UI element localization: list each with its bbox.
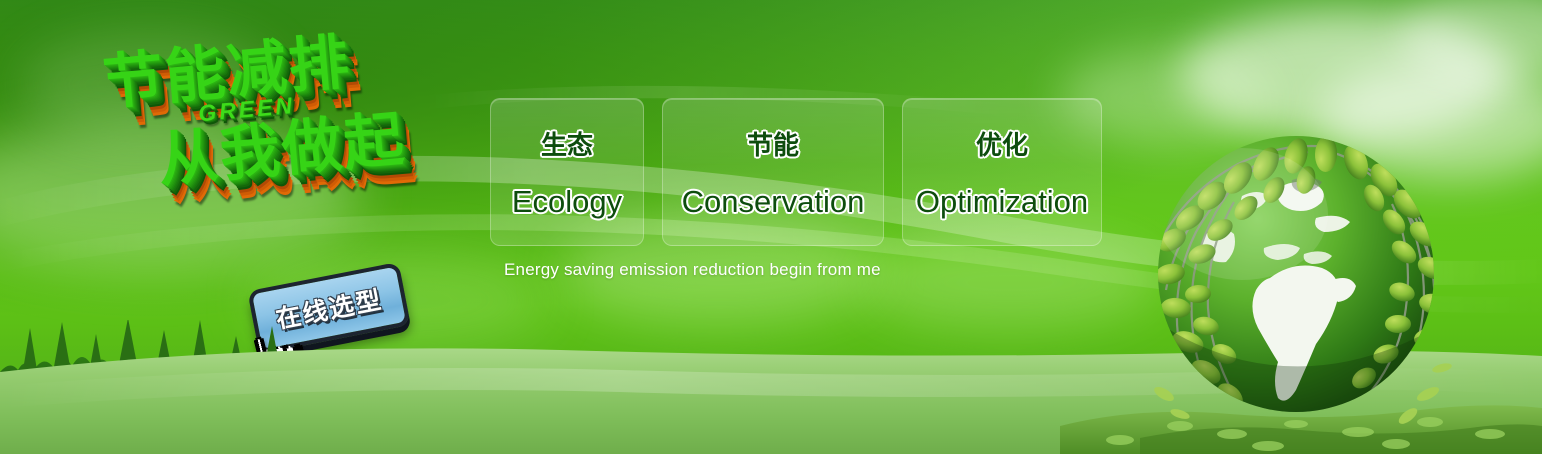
feature-box-conservation[interactable]: 节能 Conservation — [662, 98, 884, 246]
online-selection-button[interactable]: 在线选型 — [247, 262, 410, 354]
feature-box-optimization[interactable]: 优化 Optimization — [902, 98, 1102, 246]
feature-label-cn: 节能 — [747, 125, 799, 162]
feature-label-en: Conservation — [682, 184, 865, 220]
eco-hero-banner: 节能减排 GREEN 从我做起 生态 Ecology 节能 Conservati… — [0, 0, 1542, 454]
feature-box-ecology[interactable]: 生态 Ecology — [490, 98, 644, 246]
feature-label-cn: 优化 — [976, 125, 1028, 162]
online-selection-button-wrapper: 在线选型 — [247, 262, 410, 354]
feature-box-group: 生态 Ecology 节能 Conservation 优化 Optimizati… — [490, 98, 1102, 246]
cloud-icon — [860, 235, 1160, 330]
banner-tagline: Energy saving emission reduction begin f… — [504, 260, 881, 280]
cloud-icon — [1400, 0, 1542, 80]
online-selection-label: 在线选型 — [273, 280, 386, 336]
feature-label-en: Ecology — [512, 184, 622, 220]
cloud-icon — [1180, 10, 1510, 140]
feature-label-en: Optimization — [916, 184, 1088, 220]
headline-artwork: 节能减排 GREEN 从我做起 — [87, 19, 506, 283]
feature-label-cn: 生态 — [541, 125, 593, 162]
leafy-globe-icon — [1146, 122, 1452, 428]
